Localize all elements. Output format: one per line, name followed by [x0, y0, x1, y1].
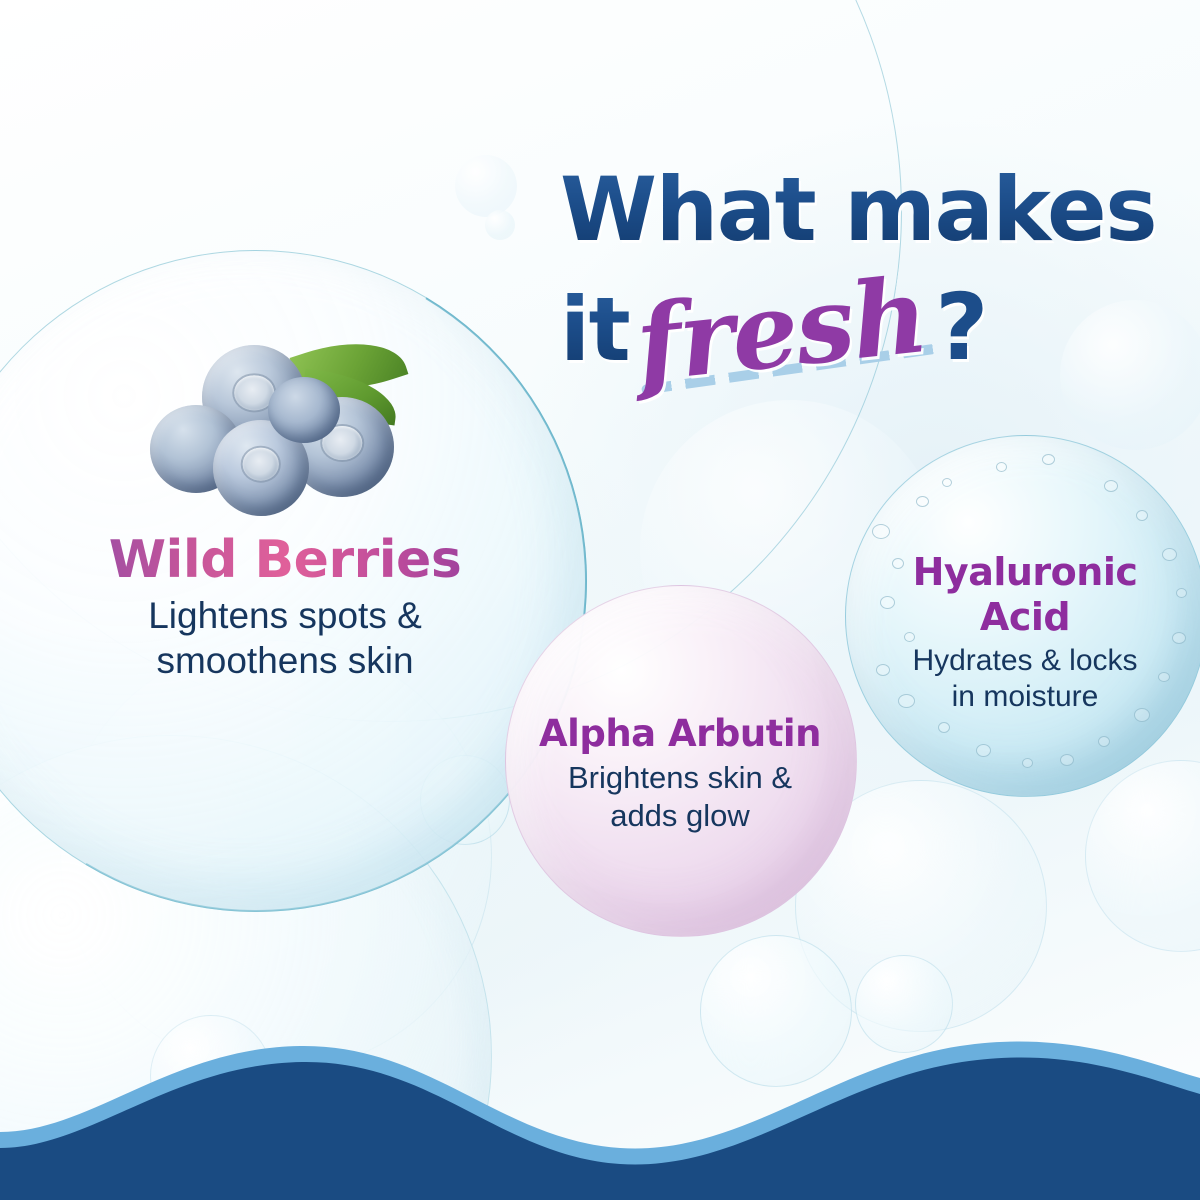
ingredient-desc-wild-berries-line1: Lightens spots &: [55, 593, 515, 638]
blueberry-cluster-image: [150, 335, 400, 520]
headline-line-2: it fresh ?: [560, 258, 1080, 381]
background-bubble-top-tiny: [485, 210, 515, 240]
poster-canvas: What makes it fresh ? Wild Berries Light…: [0, 0, 1200, 1200]
ingredient-title-acid: Acid: [875, 598, 1175, 637]
headline-text-what-makes: What makes: [560, 158, 1156, 261]
ingredient-desc-hyaluronic-line2: in moisture: [875, 679, 1175, 716]
ingredient-hyaluronic-acid: Hyaluronic Acid Hydrates & locks in mois…: [875, 553, 1175, 716]
ingredient-wild-berries: Wild Berries Lightens spots & smoothens …: [55, 534, 515, 683]
headline-text-fresh: fresh: [631, 254, 932, 407]
headline-text-it: it: [560, 278, 629, 381]
ingredient-desc-alpha-arbutin-line1: Brightens skin &: [500, 759, 860, 797]
background-bubble-top-right: [1060, 300, 1200, 450]
headline: What makes it fresh ?: [560, 168, 1080, 381]
headline-line-1: What makes: [560, 168, 1080, 252]
headline-script-word: fresh: [631, 254, 932, 407]
ingredient-title-alpha-arbutin: Alpha Arbutin: [500, 715, 860, 753]
ingredient-title-wild-berries: Wild Berries: [55, 534, 515, 587]
ingredient-desc-wild-berries-line2: smoothens skin: [55, 638, 515, 683]
footer-wave: [0, 1020, 1200, 1200]
ingredient-desc-alpha-arbutin-line2: adds glow: [500, 797, 860, 835]
headline-question-mark: ?: [935, 274, 988, 381]
blueberry: [268, 377, 340, 443]
background-bubble-top-small: [455, 155, 517, 217]
background-bubble-far-right: [1085, 760, 1200, 952]
ingredient-alpha-arbutin: Alpha Arbutin Brightens skin & adds glow: [500, 715, 860, 834]
ingredient-title-hyaluronic: Hyaluronic: [875, 553, 1175, 592]
ingredient-desc-hyaluronic-line1: Hydrates & locks: [875, 643, 1175, 680]
